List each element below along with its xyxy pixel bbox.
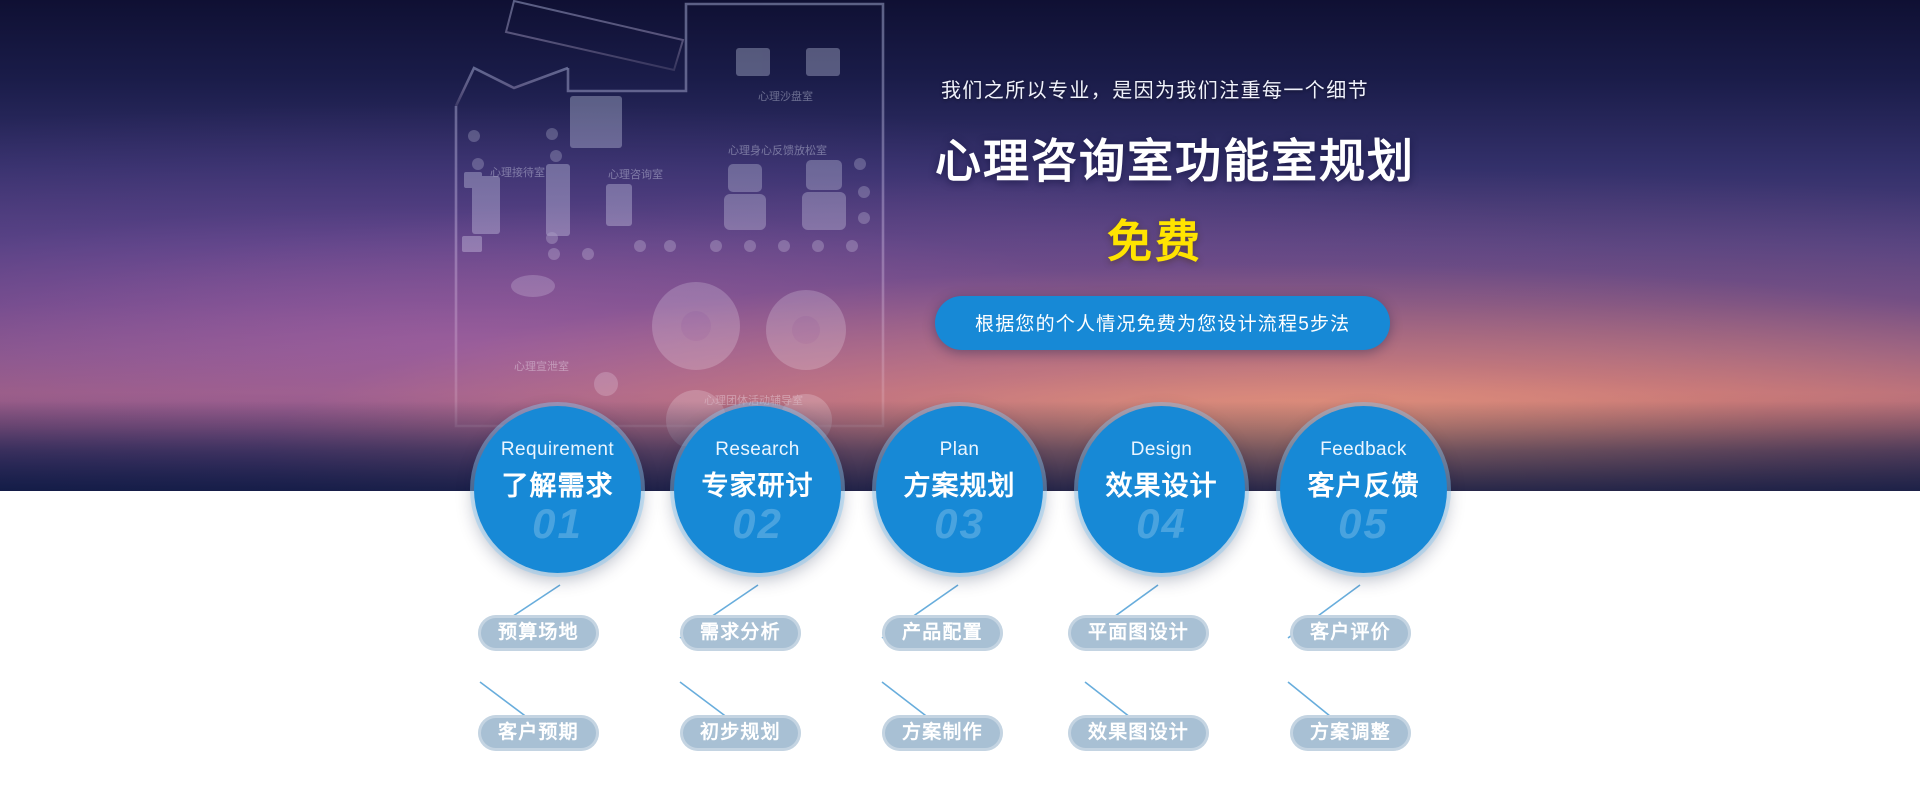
tag-pill-bottom-1[interactable]: 客户预期 — [478, 715, 599, 751]
svg-text:心理身心反馈放松室: 心理身心反馈放松室 — [728, 143, 827, 157]
step-label-cn: 方案规划 — [876, 464, 1043, 503]
step-circle-3[interactable]: Plan 方案规划 03 — [876, 406, 1043, 573]
headline-block: 我们之所以专业，是因为我们注重每一个细节 心理咨询室功能室规划 免费 根据您的个… — [935, 74, 1375, 350]
svg-text:心理团体活动辅导室: 心理团体活动辅导室 — [704, 393, 803, 407]
hero-title: 心理咨询室功能室规划 — [935, 125, 1375, 191]
tag-pill-top-4[interactable]: 平面图设计 — [1068, 615, 1209, 651]
hero-subtitle: 我们之所以专业，是因为我们注重每一个细节 — [935, 74, 1375, 103]
svg-text:心理接待室: 心理接待室 — [490, 165, 545, 179]
step-number: 02 — [674, 500, 841, 548]
tag-pill-bottom-4[interactable]: 效果图设计 — [1068, 715, 1209, 751]
step-number: 03 — [876, 500, 1043, 548]
tag-pill-top-1[interactable]: 预算场地 — [478, 615, 599, 651]
tag-pill-top-3[interactable]: 产品配置 — [882, 615, 1003, 651]
step-circle-5[interactable]: Feedback 客户反馈 05 — [1280, 406, 1447, 573]
free-badge: 免费 — [935, 205, 1375, 270]
step-circle-4[interactable]: Design 效果设计 04 — [1078, 406, 1245, 573]
step-label-cn: 了解需求 — [474, 464, 641, 503]
step-label-cn: 专家研讨 — [674, 464, 841, 503]
svg-text:心理宣泄室: 心理宣泄室 — [514, 359, 569, 373]
step-number: 01 — [474, 500, 641, 548]
step-label-cn: 客户反馈 — [1280, 464, 1447, 503]
step-number: 05 — [1280, 500, 1447, 548]
step-label-en: Plan — [876, 439, 1043, 461]
tag-pill-top-5[interactable]: 客户评价 — [1290, 615, 1411, 651]
tag-pill-top-2[interactable]: 需求分析 — [680, 615, 801, 651]
tag-pill-bottom-3[interactable]: 方案制作 — [882, 715, 1003, 751]
floorplan-watermark-image: 心理接待室 心理咨询室 心理沙盘室 心理身心反馈放松室 心理宣泄室 心理团体活动… — [428, 0, 908, 446]
step-label-cn: 效果设计 — [1078, 464, 1245, 503]
step-circle-2[interactable]: Research 专家研讨 02 — [674, 406, 841, 573]
step-circle-1[interactable]: Requirement 了解需求 01 — [474, 406, 641, 573]
step-label-en: Research — [674, 439, 841, 461]
svg-text:心理沙盘室: 心理沙盘室 — [758, 89, 813, 103]
step-label-en: Feedback — [1280, 439, 1447, 461]
step-label-en: Requirement — [474, 439, 641, 461]
step-number: 04 — [1078, 500, 1245, 548]
cta-button[interactable]: 根据您的个人情况免费为您设计流程5步法 — [935, 296, 1390, 350]
tag-pill-bottom-5[interactable]: 方案调整 — [1290, 715, 1411, 751]
svg-text:心理咨询室: 心理咨询室 — [608, 167, 663, 181]
step-label-en: Design — [1078, 439, 1245, 461]
tag-pill-bottom-2[interactable]: 初步规划 — [680, 715, 801, 751]
